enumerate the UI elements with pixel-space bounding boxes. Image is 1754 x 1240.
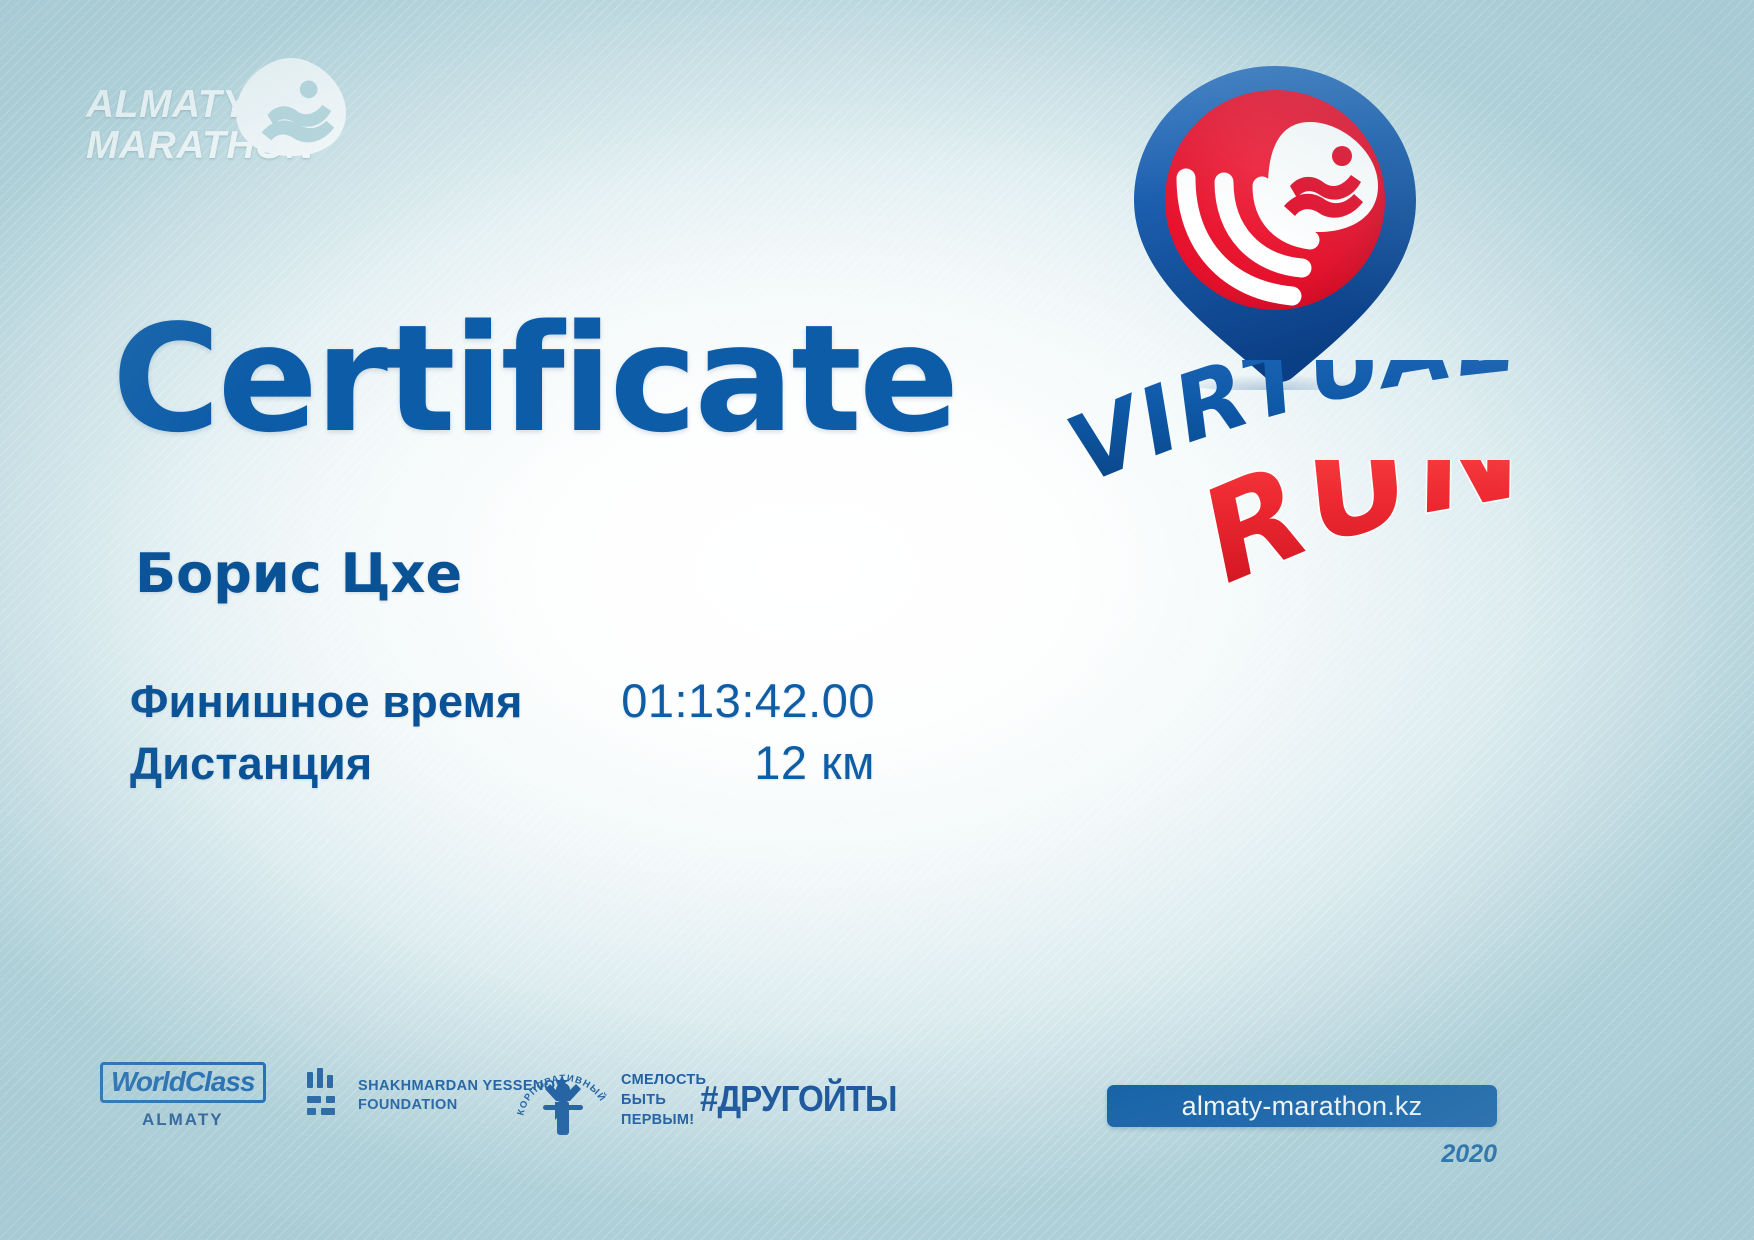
almaty-marathon-logo: ALMATY MARATHON bbox=[82, 62, 352, 180]
svg-text:RUN: RUN bbox=[1181, 460, 1539, 612]
year-label: 2020 bbox=[1350, 1140, 1497, 1169]
world-class-badge: WorldClass bbox=[100, 1062, 266, 1103]
corporate-fund-line2: БЫТЬ bbox=[621, 1090, 706, 1110]
finish-time-label: Финишное время bbox=[130, 677, 523, 727]
results-table: Финишное время 01:13:42.00 Дистанция 12 … bbox=[130, 676, 875, 800]
run-wordmark: RUN bbox=[1130, 460, 1550, 650]
sponsor-world-class: WorldClass ALMATY bbox=[100, 1062, 266, 1130]
sponsor-strip: WorldClass ALMATY SHAKHMARDAN YESSENOV F… bbox=[100, 1050, 980, 1180]
page-title: Certificate bbox=[112, 305, 956, 453]
world-class-city: ALMATY bbox=[100, 1110, 266, 1130]
map-pin-icon bbox=[1120, 60, 1430, 390]
runner-icon bbox=[232, 56, 350, 160]
distance-value: 12 км bbox=[754, 738, 875, 788]
athlete-name: Борис Цхе bbox=[135, 545, 462, 603]
run-text: RUN bbox=[1181, 460, 1539, 612]
sponsor-corporate-fund: КОРПОРАТИВНЫЙ ФОНД СМЕЛОСТЬ БЫТЬ ПЕРВЫМ! bbox=[515, 1056, 706, 1144]
distance-label: Дистанция bbox=[130, 739, 372, 789]
certificate-canvas: ALMATY MARATHON Certificate Борис Цхе Фи… bbox=[0, 0, 1754, 1240]
table-row: Финишное время 01:13:42.00 bbox=[130, 676, 875, 738]
table-row: Дистанция 12 км bbox=[130, 738, 875, 800]
corporate-fund-line3: ПЕРВЫМ! bbox=[621, 1110, 706, 1130]
sponsor-hashtag: #ДРУГОЙТЫ bbox=[700, 1080, 897, 1118]
finish-time-value: 01:13:42.00 bbox=[621, 676, 875, 726]
website-badge[interactable]: almaty-marathon.kz bbox=[1107, 1085, 1497, 1127]
world-class-word1: World bbox=[111, 1066, 185, 1097]
virtual-run-logo: VIRTUAL RUN bbox=[1060, 60, 1530, 620]
website-url: almaty-marathon.kz bbox=[1182, 1091, 1423, 1122]
corporate-fund-slogan: СМЕЛОСТЬ БЫТЬ ПЕРВЫМ! bbox=[621, 1070, 706, 1130]
world-class-word2: Class bbox=[185, 1066, 255, 1097]
corporate-fund-line1: СМЕЛОСТЬ bbox=[621, 1070, 706, 1090]
person-arms-up-icon: КОРПОРАТИВНЫЙ ФОНД bbox=[515, 1056, 611, 1144]
bars-icon bbox=[305, 1068, 345, 1124]
